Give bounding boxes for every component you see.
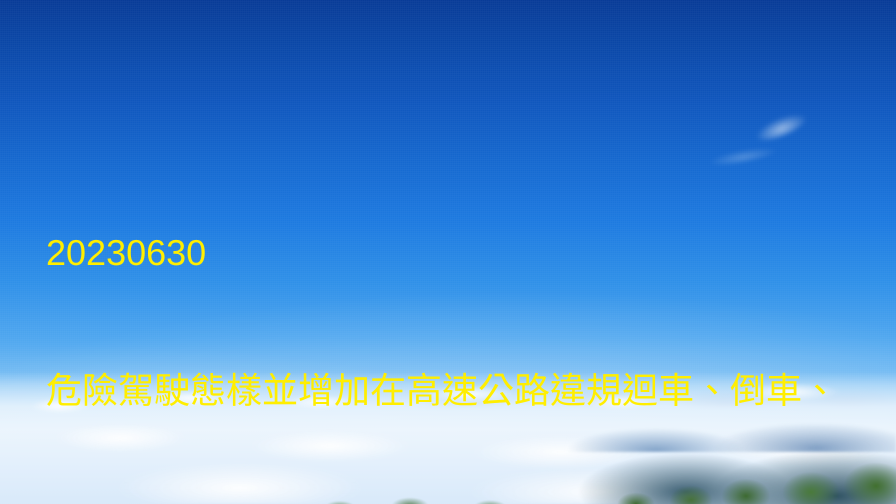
presentation-slide: 20230630 危險駕駛態樣並增加在高速公路違規迴車、倒車、 逆向行駛行為；依…: [0, 0, 896, 504]
slide-text-block: 20230630 危險駕駛態樣並增加在高速公路違規迴車、倒車、 逆向行駛行為；依…: [46, 138, 876, 504]
slide-text-line-clause-1: 危險駕駛態樣並增加在高速公路違規迴車、倒車、: [46, 368, 876, 414]
slide-text-line-date: 20230630: [46, 230, 876, 276]
